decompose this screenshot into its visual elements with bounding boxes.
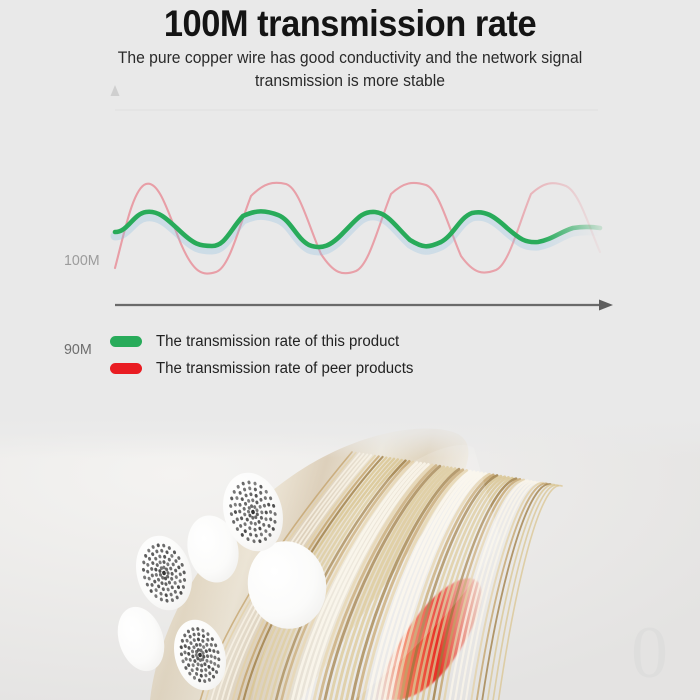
y-tick-label-90m: 90M [64, 341, 92, 358]
infographic-page: 100M transmission rate The pure copper w… [0, 0, 700, 700]
page-title: 100M transmission rate [25, 4, 676, 44]
legend-item-this-product: The transmission rate of this product [110, 330, 421, 353]
photo-watermark: 0 [631, 611, 666, 696]
x-axis-arrow-icon [599, 300, 613, 311]
chart-panel: 100M transmission rate The pure copper w… [0, 0, 700, 430]
legend-label-this-product: The transmission rate of this product [156, 333, 399, 351]
legend-swatch-green-icon [110, 336, 142, 347]
transmission-rate-chart: 100M 90M [0, 84, 700, 324]
photo-top-fade [0, 418, 700, 458]
chart-legend: The transmission rate of this product Th… [110, 330, 421, 384]
y-axis-arrow-icon [111, 85, 120, 96]
legend-item-peer-products: The transmission rate of peer products [110, 357, 421, 380]
legend-swatch-red-icon [110, 363, 142, 374]
chart-svg [0, 84, 700, 324]
y-tick-label-100m: 100M [64, 252, 100, 269]
chart-grid-vertical [159, 98, 555, 306]
legend-label-peer-products: The transmission rate of peer products [156, 360, 413, 378]
copper-wire-illustration [0, 418, 700, 700]
copper-wire-photo: 0 [0, 418, 700, 700]
